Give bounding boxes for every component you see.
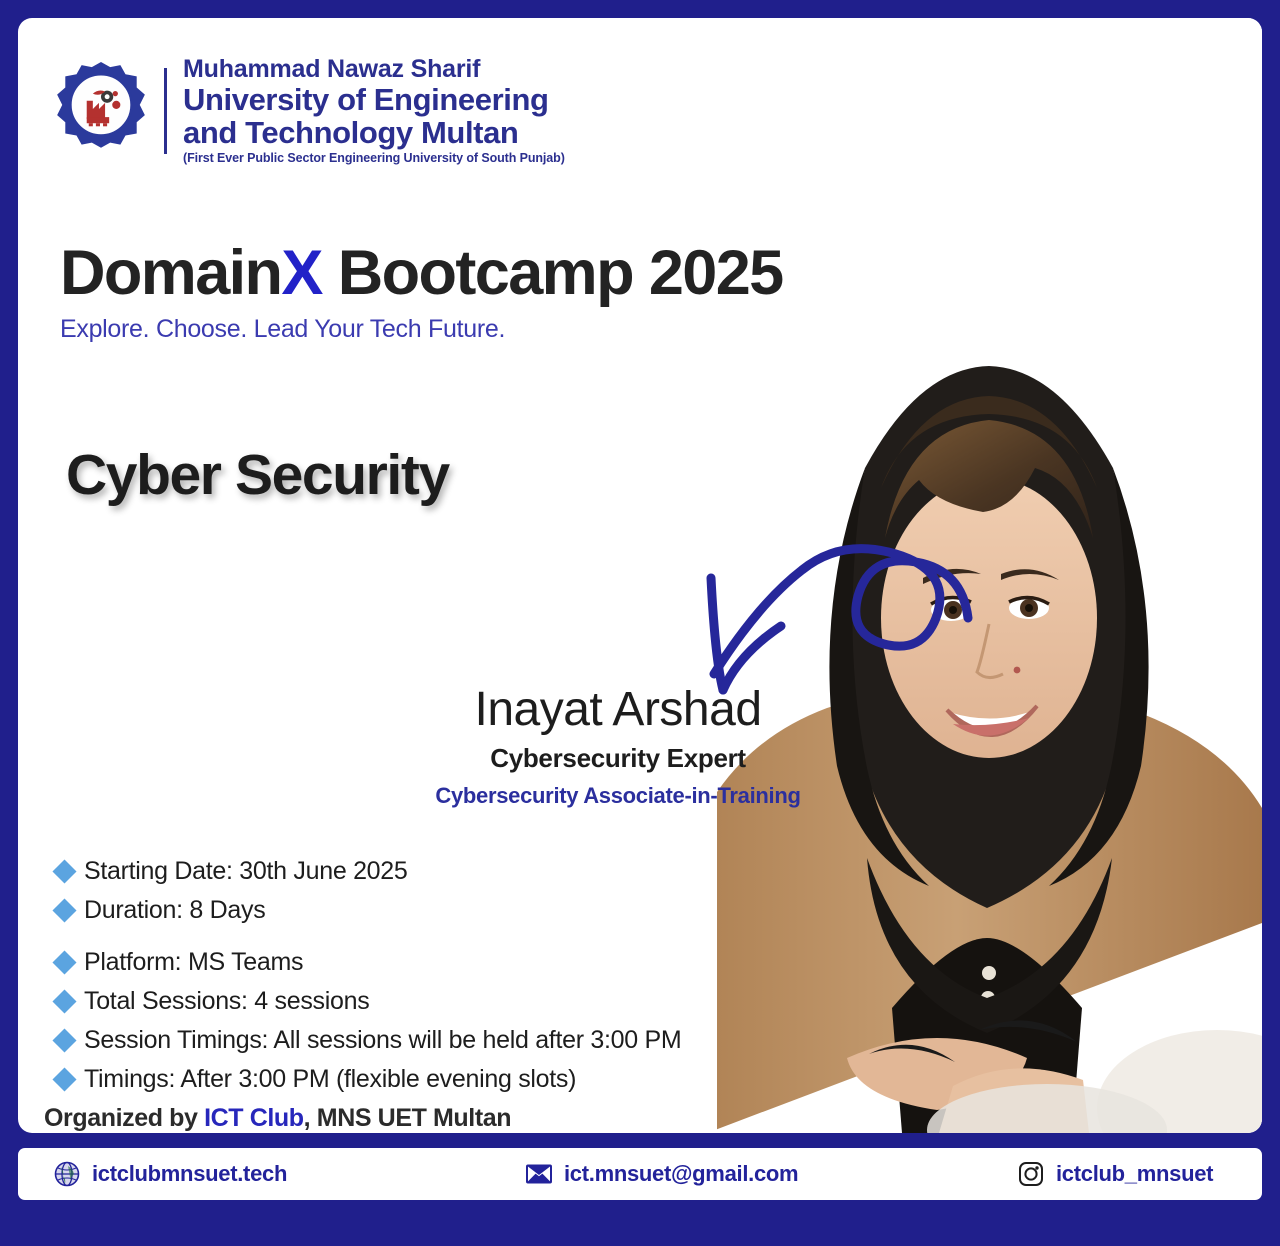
page-title: DomainX Bootcamp 2025	[60, 240, 783, 306]
detail-starting-date: Starting Date: 30th June 2025	[84, 857, 407, 886]
speaker-sub-role: Cybersecurity Associate-in-Training	[418, 783, 818, 809]
list-item: Starting Date: 30th June 2025	[56, 854, 746, 888]
footer-website[interactable]: ictclubmnsuet.tech	[54, 1161, 287, 1187]
globe-icon	[54, 1161, 80, 1187]
diamond-bullet-icon	[52, 1028, 76, 1052]
organizer-line: Organized by ICT Club, MNS UET Multan	[44, 1104, 511, 1133]
detail-platform: Platform: MS Teams	[84, 948, 303, 977]
list-item: Total Sessions: 4 sessions	[56, 984, 746, 1018]
poster-card: Muhammad Nawaz Sharif University of Engi…	[18, 18, 1262, 1133]
footer-instagram[interactable]: ictclub_mnsuet	[1018, 1161, 1213, 1187]
title-part-1: Domain	[60, 238, 281, 308]
university-name-text: Muhammad Nawaz Sharif University of Engi…	[183, 56, 565, 165]
organizer-prefix: Organized by	[44, 1104, 204, 1132]
instagram-icon	[1018, 1161, 1044, 1187]
envelope-icon	[526, 1161, 552, 1187]
list-item: Duration: 8 Days	[56, 893, 746, 927]
footer-website-text: ictclubmnsuet.tech	[92, 1161, 287, 1187]
university-logo-block: Muhammad Nawaz Sharif University of Engi…	[50, 56, 565, 165]
logo-divider	[164, 68, 167, 154]
diamond-bullet-icon	[52, 950, 76, 974]
list-item: Session Timings: All sessions will be he…	[56, 1023, 746, 1057]
detail-duration: Duration: 8 Days	[84, 896, 265, 925]
organizer-club: ICT Club	[204, 1104, 304, 1132]
diamond-bullet-icon	[52, 1067, 76, 1091]
university-subtitle: (First Ever Public Sector Engineering Un…	[183, 152, 565, 165]
list-item: Platform: MS Teams	[56, 945, 746, 979]
university-line-2: University of Engineering	[183, 83, 565, 116]
list-item: Timings: After 3:00 PM (flexible evening…	[56, 1062, 746, 1096]
diamond-bullet-icon	[52, 898, 76, 922]
diamond-bullet-icon	[52, 859, 76, 883]
curved-arrow-doodle	[673, 518, 973, 698]
diamond-bullet-icon	[52, 989, 76, 1013]
detail-total-sessions: Total Sessions: 4 sessions	[84, 987, 369, 1016]
footer-email[interactable]: ict.mnsuet@gmail.com	[526, 1161, 798, 1187]
domain-title: Cyber Security	[66, 442, 449, 508]
footer-bar: ictclubmnsuet.tech ict.mnsuet@gmail.com …	[18, 1148, 1262, 1200]
title-block: DomainX Bootcamp 2025 Explore. Choose. L…	[60, 240, 783, 344]
organizer-suffix: , MNS UET Multan	[304, 1104, 511, 1132]
speaker-name: Inayat Arshad	[418, 684, 818, 737]
tagline: Explore. Choose. Lead Your Tech Future.	[60, 315, 783, 344]
mns-uet-crest-icon	[50, 60, 152, 162]
speaker-block: Inayat Arshad Cybersecurity Expert Cyber…	[418, 684, 818, 809]
university-line-3: and Technology Multan	[183, 116, 565, 149]
speaker-role: Cybersecurity Expert	[418, 743, 818, 774]
detail-session-timings: Session Timings: All sessions will be he…	[84, 1026, 681, 1055]
title-accent-x: X	[281, 238, 321, 308]
detail-timings: Timings: After 3:00 PM (flexible evening…	[84, 1065, 576, 1094]
footer-email-text: ict.mnsuet@gmail.com	[564, 1161, 798, 1187]
title-part-2: Bootcamp 2025	[322, 238, 783, 308]
footer-instagram-text: ictclub_mnsuet	[1056, 1161, 1213, 1187]
university-line-1: Muhammad Nawaz Sharif	[183, 56, 565, 83]
details-list: Starting Date: 30th June 2025 Duration: …	[56, 854, 746, 1101]
